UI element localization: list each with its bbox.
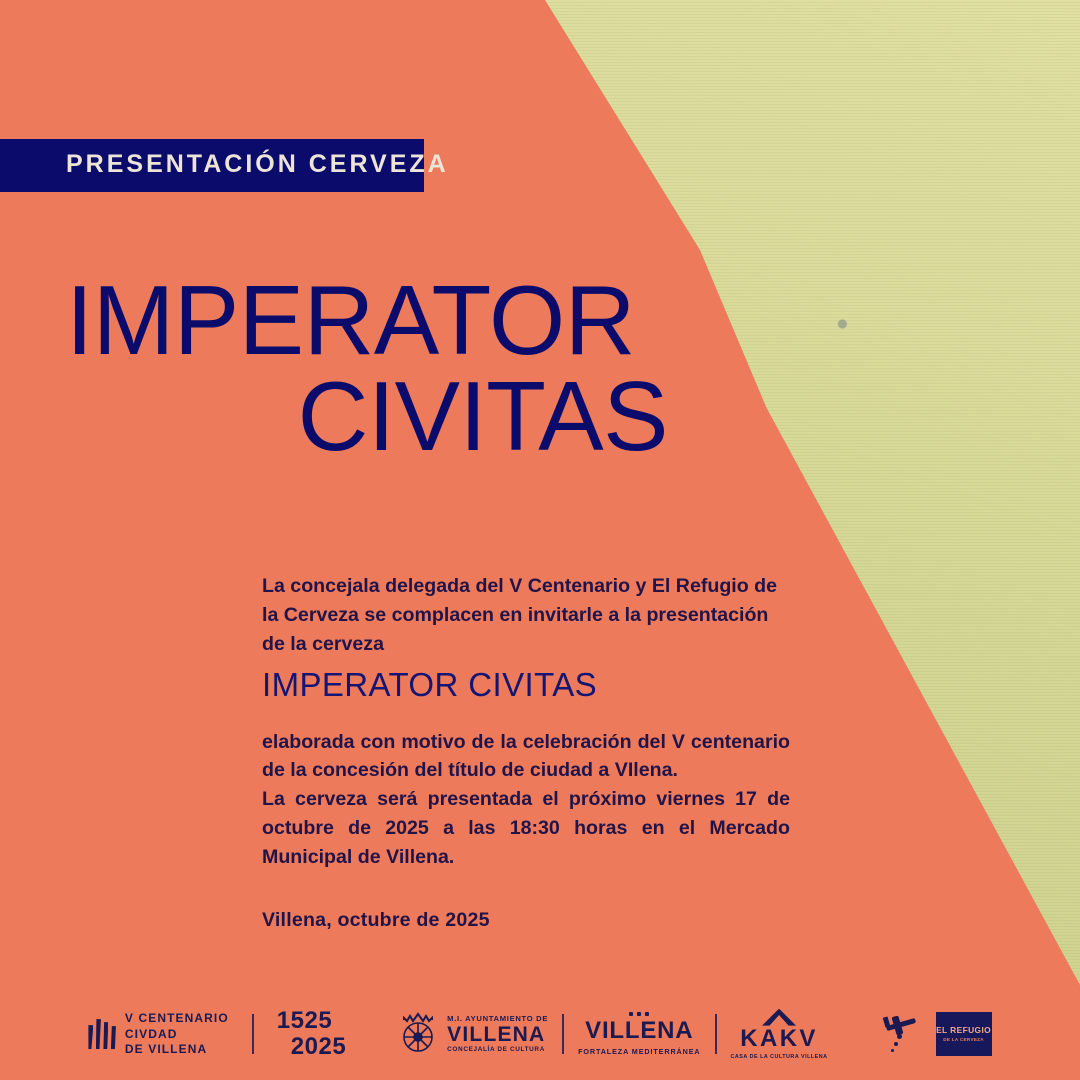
- kakv-name: KAKV: [740, 1027, 818, 1051]
- invitation-body: La concejala delegada del V Centenario y…: [262, 572, 790, 934]
- page-title: IMPERATOR CIVITAS: [66, 272, 686, 464]
- poster-content: PRESENTACIÓN CERVEZA IMPERATOR CIVITAS L…: [0, 0, 1080, 1080]
- centenario-mark-icon: [88, 1019, 116, 1049]
- fortaleza-dots-icon: [629, 1012, 649, 1016]
- invitation-paragraph-motive: elaborada con motivo de la celebración d…: [262, 728, 790, 786]
- title-line-2: CIVITAS: [66, 368, 686, 464]
- year-to: 2025: [277, 1034, 346, 1060]
- logo-el-refugio: EL REFUGIO DE LA CERVEZA: [880, 1012, 992, 1056]
- beer-name: IMPERATOR CIVITAS: [262, 664, 790, 705]
- logo-divider-2: [562, 1014, 564, 1054]
- centenario-wordmark: V CENTENARIO CIVDAD DE VILLENA: [125, 1011, 229, 1056]
- ayuntamiento-wordmark: M.I. AYUNTAMIENTO DE VILLENA CONCEJALÍA …: [447, 1015, 548, 1053]
- logo-divider-3: [715, 1014, 717, 1054]
- logo-strip: V CENTENARIO CIVDAD DE VILLENA 1525 2025: [0, 1008, 1080, 1060]
- kakv-roof-icon: [762, 1009, 796, 1026]
- invitation-paragraph-event: La cerveza será presentada el próximo vi…: [262, 785, 790, 871]
- airplane-icon: [880, 1012, 926, 1056]
- kicker-label: PRESENTACIÓN CERVEZA: [66, 152, 400, 177]
- logo-v-centenario: V CENTENARIO CIVDAD DE VILLENA 1525 2025: [88, 1008, 346, 1060]
- centenario-line-1: V CENTENARIO: [125, 1011, 229, 1026]
- year-from: 1525: [277, 1008, 346, 1034]
- logo-villena-fortaleza: VILLENA FORTALEZA MEDITERRÁNEA: [578, 1012, 700, 1056]
- centenario-line-3: DE VILLENA: [125, 1042, 229, 1057]
- ayuntamiento-line-3: CONCEJALÍA DE CULTURA: [447, 1046, 548, 1053]
- logo-divider: [252, 1014, 254, 1054]
- invitation-signature: Villena, octubre de 2025: [262, 906, 790, 935]
- villena-crest-icon: [398, 1010, 438, 1058]
- invitation-intro: La concejala delegada del V Centenario y…: [262, 572, 790, 658]
- title-line-1: IMPERATOR: [66, 272, 686, 368]
- refugio-badge: EL REFUGIO DE LA CERVEZA: [936, 1012, 992, 1056]
- fortaleza-tagline: FORTALEZA MEDITERRÁNEA: [578, 1047, 700, 1056]
- poster-canvas: PRESENTACIÓN CERVEZA IMPERATOR CIVITAS L…: [0, 0, 1080, 1080]
- kakv-tagline: CASA DE LA CULTURA VILLENA: [731, 1054, 828, 1060]
- refugio-line-1: EL REFUGIO: [936, 1026, 991, 1035]
- logo-kakv: KAKV CASA DE LA CULTURA VILLENA: [731, 1009, 828, 1060]
- logo-ayuntamiento-villena: M.I. AYUNTAMIENTO DE VILLENA CONCEJALÍA …: [398, 1010, 548, 1058]
- centenario-line-2: CIVDAD: [125, 1027, 229, 1042]
- ayuntamiento-line-2: VILLENA: [447, 1024, 548, 1046]
- fortaleza-name: VILLENA: [585, 1019, 693, 1043]
- centenario-years: 1525 2025: [277, 1008, 346, 1060]
- kicker-banner: PRESENTACIÓN CERVEZA: [0, 139, 424, 192]
- refugio-line-2: DE LA CERVEZA: [943, 1037, 984, 1042]
